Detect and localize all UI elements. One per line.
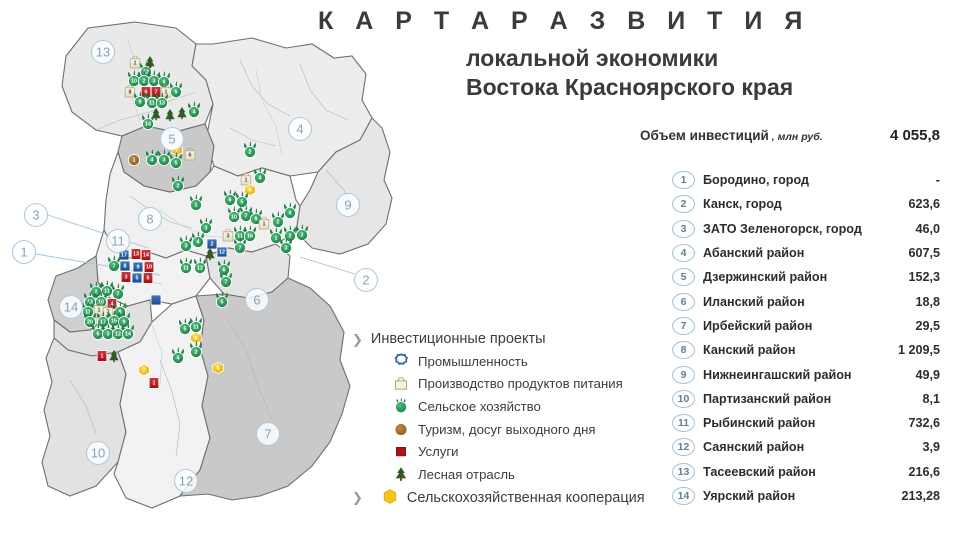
svg-text:5: 5 [184,326,187,332]
svg-text:11: 11 [193,324,199,330]
legend-item-label: Сельское хозяйство [418,399,541,414]
legend-item: Туризм, досуг выходного дня [352,418,672,441]
table-row: 13Тасеевский район216,6 [672,460,940,484]
legend-item-label: Услуги [418,444,459,459]
svg-text:12: 12 [197,265,203,271]
district-name: Абанский район [703,246,804,260]
svg-text:16: 16 [111,318,117,324]
svg-text:4: 4 [296,122,303,137]
svg-text:3: 3 [205,225,208,231]
district-name: Уярский район [703,489,795,503]
svg-text:14: 14 [143,252,149,258]
svg-text:6: 6 [195,335,198,341]
district-value: 46,0 [915,222,940,236]
table-row: 5Дзержинский район152,3 [672,265,940,289]
district-value: 732,6 [908,416,940,430]
district-number-badge: 11 [672,414,695,432]
district-number-badge: 9 [672,366,695,384]
svg-text:1: 1 [133,157,136,163]
svg-text:4: 4 [193,109,196,115]
svg-text:1: 1 [153,380,156,386]
svg-text:2: 2 [289,233,292,239]
svg-text:6: 6 [147,275,150,281]
district-name: Рыбинский район [703,416,815,430]
district-value: 29,5 [915,319,940,333]
svg-text:16: 16 [247,233,253,239]
map-legend: ❯ Инвестиционные проекты ПромышленностьП… [352,331,672,508]
page-title: К А Р Т А Р А З В И Т И Я [318,8,948,36]
district-value: 213,28 [901,489,940,503]
svg-text:5: 5 [175,89,178,95]
circle-green-icon [390,396,412,416]
svg-text:11: 11 [111,234,125,249]
district-name: Канск, город [703,197,782,211]
svg-text:8: 8 [146,212,153,227]
legend-item-label: Производство продуктов питания [418,376,623,391]
svg-text:3: 3 [153,78,156,84]
svg-text:9: 9 [255,216,258,222]
svg-text:10: 10 [231,214,237,220]
svg-text:10: 10 [146,264,152,270]
svg-text:9: 9 [344,198,351,213]
svg-text:6: 6 [189,152,192,158]
svg-text:10: 10 [131,78,137,84]
legend-item: Промышленность [352,350,672,373]
legend-item: Производство продуктов питания [352,373,672,396]
district-number-badge: 10 [672,390,695,408]
district-value: - [936,173,940,187]
district-number-badge: 5 [672,268,695,286]
legend-footer-label: Сельскохозяйственная кооперация [407,490,645,506]
svg-text:9: 9 [139,99,142,105]
svg-text:2: 2 [195,349,198,355]
district-value: 8,1 [922,392,940,406]
svg-text:3: 3 [107,331,110,337]
svg-text:3: 3 [185,243,188,249]
svg-text:1: 1 [101,353,104,359]
svg-text:2: 2 [249,149,252,155]
svg-text:2: 2 [301,232,304,238]
district-investment-table: 1Бородино, город-2Канск, город623,63ЗАТО… [672,168,940,508]
legend-item: Услуги [352,440,672,463]
district-number-badge: 4 [672,244,695,262]
svg-text:13: 13 [133,251,139,257]
legend-item-label: Лесная отрасль [418,467,515,482]
table-row: 8Канский район1 209,5 [672,338,940,362]
district-number-badge: 13 [672,463,695,481]
chevron-right-icon: ❯ [352,491,363,504]
total-investment-units: , млн руб. [772,131,823,143]
table-row: 2Канск, город623,6 [672,192,940,216]
district-value: 49,9 [915,368,940,382]
legend-item: Сельское хозяйство [352,395,672,418]
svg-text:7: 7 [245,213,248,219]
svg-text:11: 11 [237,233,243,239]
svg-text:11: 11 [104,288,110,294]
svg-text:8: 8 [129,89,132,95]
district-name: Тасеевский район [703,465,816,479]
svg-text:14: 14 [125,331,131,337]
svg-text:4: 4 [163,79,166,85]
table-row: 11Рыбинский район732,6 [672,411,940,435]
svg-text:17: 17 [121,252,127,258]
table-row: 14Уярский район213,28 [672,484,940,508]
svg-text:12: 12 [115,331,121,337]
circle-brown-icon [390,419,412,439]
svg-text:7: 7 [117,291,120,297]
svg-text:12: 12 [219,249,225,255]
svg-text:6: 6 [253,293,260,308]
district-number-badge: 1 [672,171,695,189]
svg-text:3: 3 [285,245,288,251]
svg-text:11: 11 [183,265,189,271]
svg-text:5: 5 [175,160,178,166]
svg-text:4: 4 [177,355,180,361]
svg-text:7: 7 [225,279,228,285]
total-investment-row: Объем инвестиций , млн руб. 4 055,8 [640,127,940,144]
svg-text:13: 13 [96,45,110,60]
district-number-badge: 3 [672,220,695,238]
svg-text:4: 4 [259,175,262,181]
table-row: 12Саянский район3,9 [672,435,940,459]
svg-text:6: 6 [229,197,232,203]
legend-header-label: Инвестиционные проекты [371,331,546,347]
svg-text:7: 7 [264,427,271,442]
svg-text:4: 4 [289,210,292,216]
pine-tree-icon [390,464,412,484]
svg-text:10: 10 [91,446,105,461]
svg-text:20: 20 [87,319,93,325]
title-block: К А Р Т А Р А З В И Т И Я локальной экон… [318,8,948,100]
district-number-badge: 2 [672,195,695,213]
svg-text:8: 8 [124,263,127,269]
svg-text:1: 1 [263,221,266,227]
svg-text:5: 5 [168,132,175,147]
district-number-badge: 8 [672,341,695,359]
district-name: Иланский район [703,295,805,309]
svg-text:5: 5 [136,275,139,281]
svg-text:4: 4 [197,239,200,245]
legend-header-row: ❯ Инвестиционные проекты [352,331,672,347]
district-name: Нижнеингашский район [703,368,852,382]
chevron-right-icon: ❯ [352,333,363,346]
legend-item: Лесная отрасль [352,463,672,486]
svg-text:2: 2 [143,367,146,373]
svg-text:17: 17 [100,319,106,325]
legend-item-label: Туризм, досуг выходного дня [418,422,596,437]
district-name: Ирбейский район [703,319,812,333]
legend-item-label: Промышленность [418,354,528,369]
svg-text:3: 3 [32,208,39,223]
svg-text:2: 2 [177,183,180,189]
svg-text:1: 1 [275,235,278,241]
district-value: 3,9 [922,440,940,454]
district-number-badge: 12 [672,438,695,456]
table-row: 7Ирбейский район29,5 [672,314,940,338]
svg-text:13: 13 [159,100,165,106]
svg-text:5: 5 [221,299,224,305]
basket-icon [390,374,412,394]
svg-text:14: 14 [145,121,151,127]
district-number-badge: 14 [672,487,695,505]
svg-text:3: 3 [163,157,166,163]
svg-text:9: 9 [123,319,126,325]
legend-footer-row: ❯ Сельскохозяйственная кооперация [352,488,672,508]
district-name: Саянский район [703,440,804,454]
district-name: Партизанский район [703,392,831,406]
svg-text:5: 5 [217,365,220,371]
svg-text:1: 1 [134,60,137,66]
district-name: Дзержинский район [703,270,827,284]
district-value: 1 209,5 [898,343,940,357]
table-row: 4Абанский район607,5 [672,241,940,265]
svg-text:1: 1 [195,202,198,208]
svg-text:6: 6 [97,331,100,337]
svg-text:2: 2 [362,273,369,288]
district-value: 216,6 [908,465,940,479]
svg-text:5: 5 [241,199,244,205]
total-investment-label: Объем инвестиций [640,128,769,143]
svg-text:11: 11 [149,100,155,106]
svg-text:1: 1 [98,307,101,313]
svg-text:2: 2 [211,241,214,247]
district-number-badge: 6 [672,293,695,311]
table-row: 9Нижнеингашский район49,9 [672,362,940,386]
svg-text:6: 6 [223,267,226,273]
svg-text:2: 2 [277,219,280,225]
district-name: ЗАТО Зеленогорск, город [703,222,862,236]
total-investment-value: 4 055,8 [890,127,940,144]
svg-text:14: 14 [64,300,78,315]
svg-text:7: 7 [239,245,242,251]
table-row: 1Бородино, город- [672,168,940,192]
svg-text:3: 3 [227,233,230,239]
svg-text:9: 9 [137,264,140,270]
svg-text:1: 1 [20,245,27,260]
district-value: 623,6 [908,197,940,211]
district-name: Канский район [703,343,795,357]
svg-text:6: 6 [249,187,252,193]
hexagon-red-icon [390,442,412,462]
svg-text:1: 1 [245,177,248,183]
svg-text:3: 3 [125,274,128,280]
page-subtitle-2: Востока Красноярского края [466,74,948,100]
svg-text:2: 2 [143,78,146,84]
district-name: Бородино, город [703,173,809,187]
district-value: 152,3 [908,270,940,284]
table-row: 3ЗАТО Зеленогорск, город46,0 [672,217,940,241]
svg-text:12: 12 [179,474,193,489]
hexagon-yellow-icon [379,488,401,508]
district-value: 607,5 [908,246,940,260]
gear-icon [390,351,412,371]
page-subtitle-1: локальной экономики [466,45,948,71]
district-number-badge: 7 [672,317,695,335]
district-value: 18,8 [915,295,940,309]
table-row: 10Партизанский район8,1 [672,387,940,411]
svg-text:4: 4 [151,157,154,163]
svg-text:4: 4 [111,301,114,307]
table-row: 6Иланский район18,8 [672,289,940,313]
svg-text:7: 7 [113,263,116,269]
